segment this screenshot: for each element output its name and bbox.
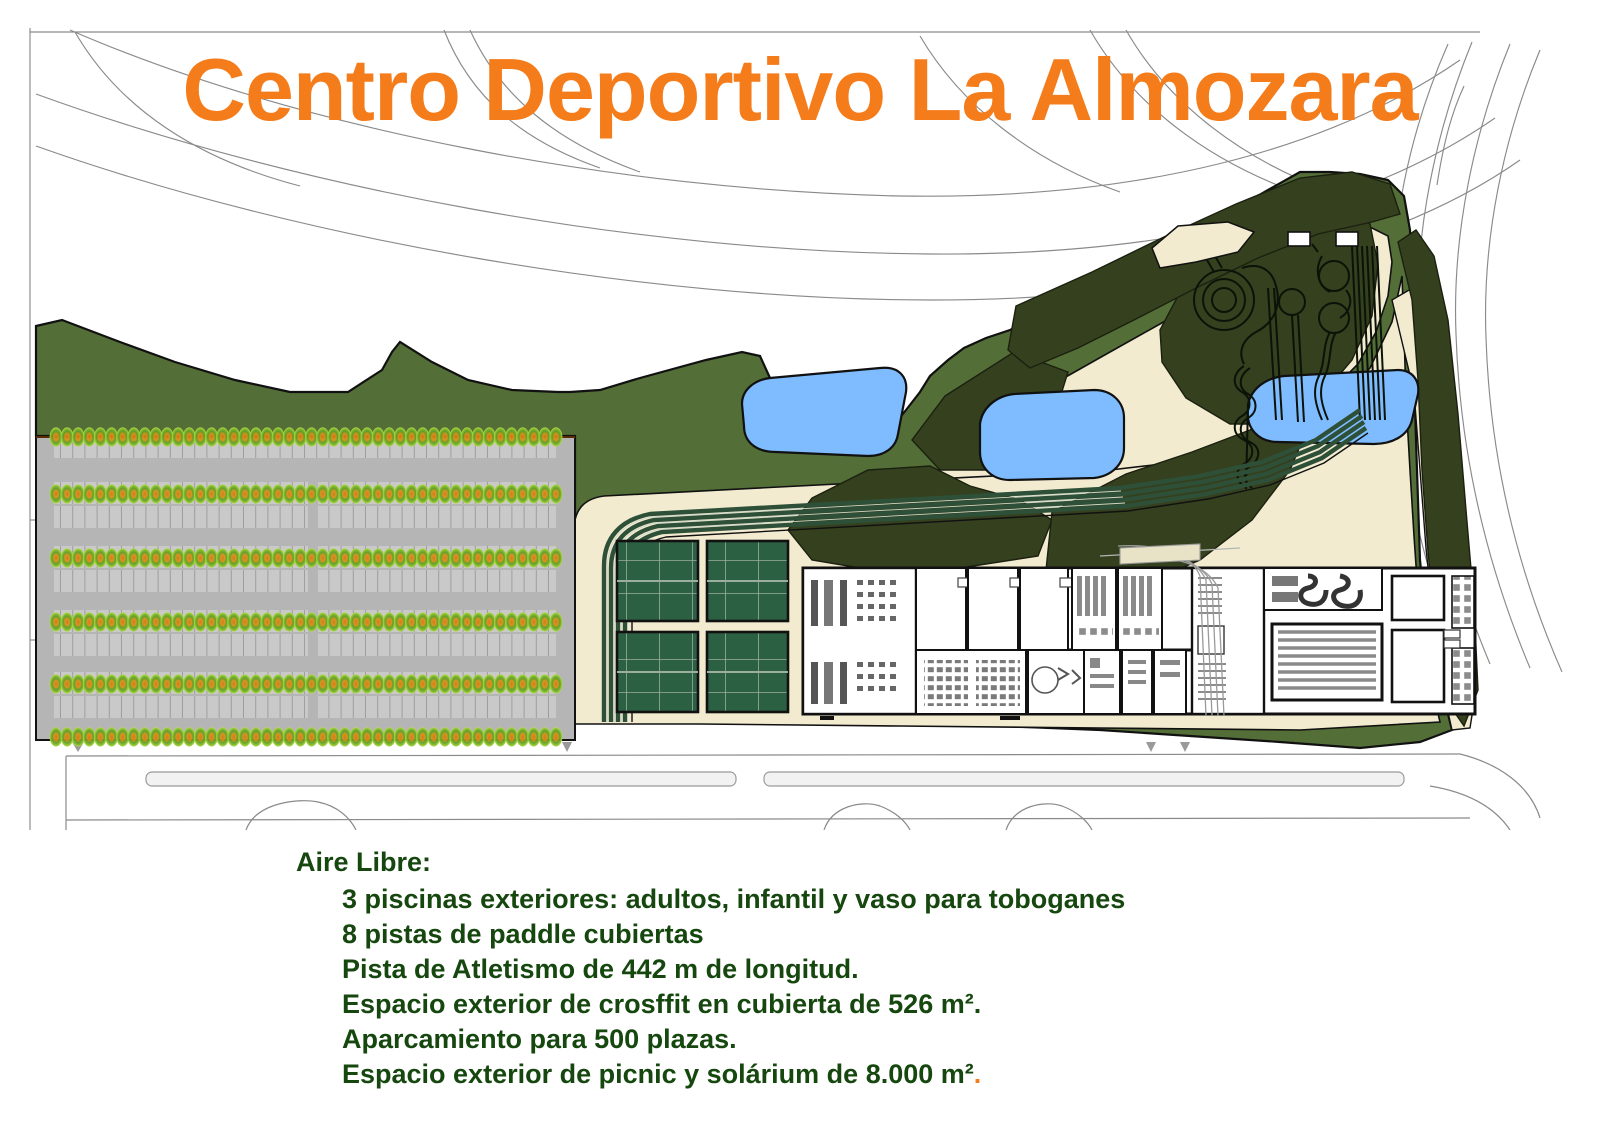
paddle-court-block bbox=[617, 541, 698, 621]
site-plan-image bbox=[0, 0, 1600, 830]
fitness-room bbox=[803, 568, 916, 714]
spa-wet-area bbox=[1264, 568, 1382, 610]
feature-item-picnic: Espacio exterior de picnic y solárium de… bbox=[342, 1057, 1496, 1092]
paddle-court-block bbox=[617, 632, 698, 712]
service-core bbox=[1084, 650, 1186, 714]
features-heading: Aire Libre: bbox=[296, 845, 1496, 880]
feature-item-crossfit: Espacio exterior de crosffit en cubierta… bbox=[342, 987, 1496, 1022]
feature-item-parking: Aparcamiento para 500 plazas. bbox=[342, 1022, 1496, 1057]
pool-children bbox=[980, 390, 1124, 480]
secondary-pools bbox=[1392, 576, 1444, 702]
changing-rooms-north bbox=[1072, 568, 1162, 650]
feature-item-pools: 3 piscinas exteriores: adultos, infantil… bbox=[342, 882, 1496, 917]
features-text-block: Aire Libre: 3 piscinas exteriores: adult… bbox=[296, 845, 1496, 1092]
features-list: 3 piscinas exteriores: adultos, infantil… bbox=[296, 882, 1496, 1093]
feature-item-track: Pista de Atletismo de 442 m de longitud. bbox=[342, 952, 1496, 987]
crossfit-roof-deck bbox=[1120, 544, 1200, 564]
paddle-court-block bbox=[707, 541, 788, 621]
pool-adults bbox=[742, 368, 906, 456]
indoor-pool bbox=[1272, 624, 1382, 700]
main-building-floorplan bbox=[803, 568, 1475, 720]
lobby-seating bbox=[916, 650, 1084, 714]
studio-rooms bbox=[916, 568, 1080, 650]
feature-item-picnic-accent: . bbox=[974, 1059, 982, 1089]
feature-item-picnic-text: Espacio exterior de picnic y solárium de… bbox=[342, 1059, 974, 1089]
parking-lot bbox=[36, 436, 575, 740]
feature-item-paddle: 8 pistas de paddle cubiertas bbox=[342, 917, 1496, 952]
slide-canvas: Centro Deportivo La Almozara Aire Libre:… bbox=[0, 0, 1600, 1131]
paddle-court-block bbox=[707, 632, 788, 712]
